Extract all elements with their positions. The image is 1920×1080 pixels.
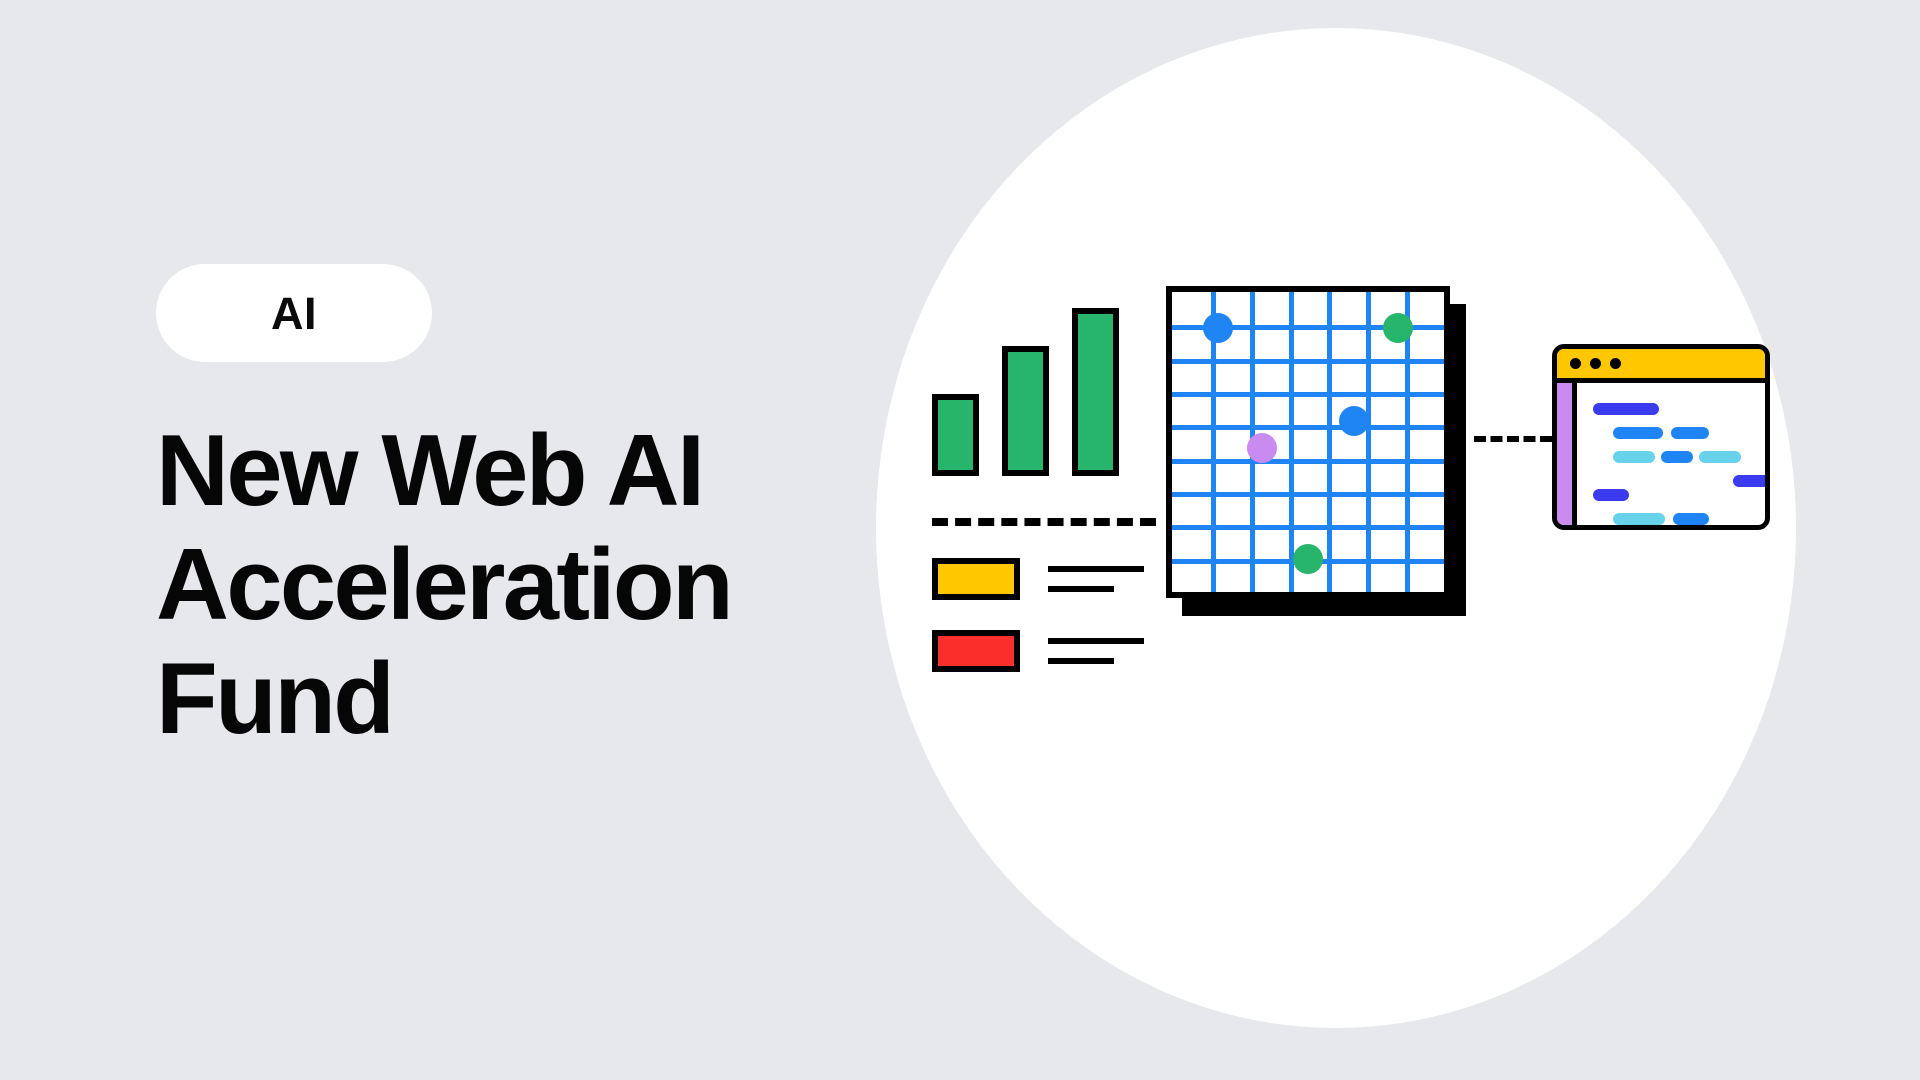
window-dot-icon — [1590, 358, 1601, 369]
bar-chart-bar — [932, 394, 979, 476]
grid-line-vertical — [1366, 286, 1371, 598]
headline-line-3: Fund — [156, 642, 856, 756]
legend-text-lines — [1048, 566, 1144, 592]
grid-panel-graphic — [1166, 286, 1466, 616]
legend-line — [1048, 658, 1114, 664]
code-window-graphic — [1552, 344, 1770, 530]
page-title: New Web AI Acceleration Fund — [156, 414, 856, 756]
grid-data-point — [1203, 313, 1233, 343]
grid-data-point — [1339, 406, 1369, 436]
grid-data-point — [1247, 433, 1277, 463]
grid-line-horizontal — [1166, 525, 1450, 530]
illustration — [876, 28, 1796, 1028]
code-line — [1661, 451, 1693, 463]
grid-line-horizontal — [1166, 425, 1450, 430]
headline-line-2: Acceleration — [156, 528, 856, 642]
category-badge[interactable]: AI — [156, 264, 432, 362]
grid-line-vertical — [1289, 286, 1294, 598]
grid-line-vertical — [1327, 286, 1332, 598]
grid-line-horizontal — [1166, 392, 1450, 397]
bar-chart-graphic — [932, 346, 1192, 706]
code-line — [1613, 513, 1665, 525]
code-window-body — [1577, 383, 1765, 525]
code-line — [1673, 513, 1709, 525]
grid-line-horizontal — [1166, 359, 1450, 364]
text-column: AI New Web AI Acceleration Fund — [156, 264, 856, 824]
connector-dashed-line — [1474, 436, 1552, 442]
code-line — [1593, 403, 1659, 415]
bar-chart-bar — [1002, 346, 1049, 476]
grid-data-point — [1383, 313, 1413, 343]
grid-panel — [1166, 286, 1450, 598]
code-line — [1613, 427, 1663, 439]
legend-row — [932, 630, 1144, 672]
grid-line-horizontal — [1166, 492, 1450, 497]
code-line — [1671, 427, 1709, 439]
dashed-divider — [932, 518, 1156, 526]
headline-line-1: New Web AI — [156, 414, 856, 528]
window-dot-icon — [1610, 358, 1621, 369]
legend-text-lines — [1048, 638, 1144, 664]
legend-line — [1048, 586, 1114, 592]
hero-banner: AI New Web AI Acceleration Fund — [0, 0, 1920, 1080]
code-window-sidebar — [1557, 383, 1577, 525]
legend-swatch-yellow — [932, 558, 1020, 600]
bar-chart-bar — [1072, 308, 1119, 476]
code-line — [1593, 489, 1629, 501]
grid-data-point — [1293, 544, 1323, 574]
legend-swatch-red — [932, 630, 1020, 672]
code-line — [1613, 451, 1655, 463]
category-badge-label: AI — [271, 291, 317, 336]
grid-line-horizontal — [1166, 459, 1450, 464]
code-line — [1733, 475, 1770, 487]
legend-line — [1048, 566, 1144, 572]
legend-row — [932, 558, 1144, 600]
window-dot-icon — [1570, 358, 1581, 369]
legend-line — [1048, 638, 1144, 644]
code-window-titlebar — [1557, 349, 1765, 383]
code-line — [1699, 451, 1741, 463]
